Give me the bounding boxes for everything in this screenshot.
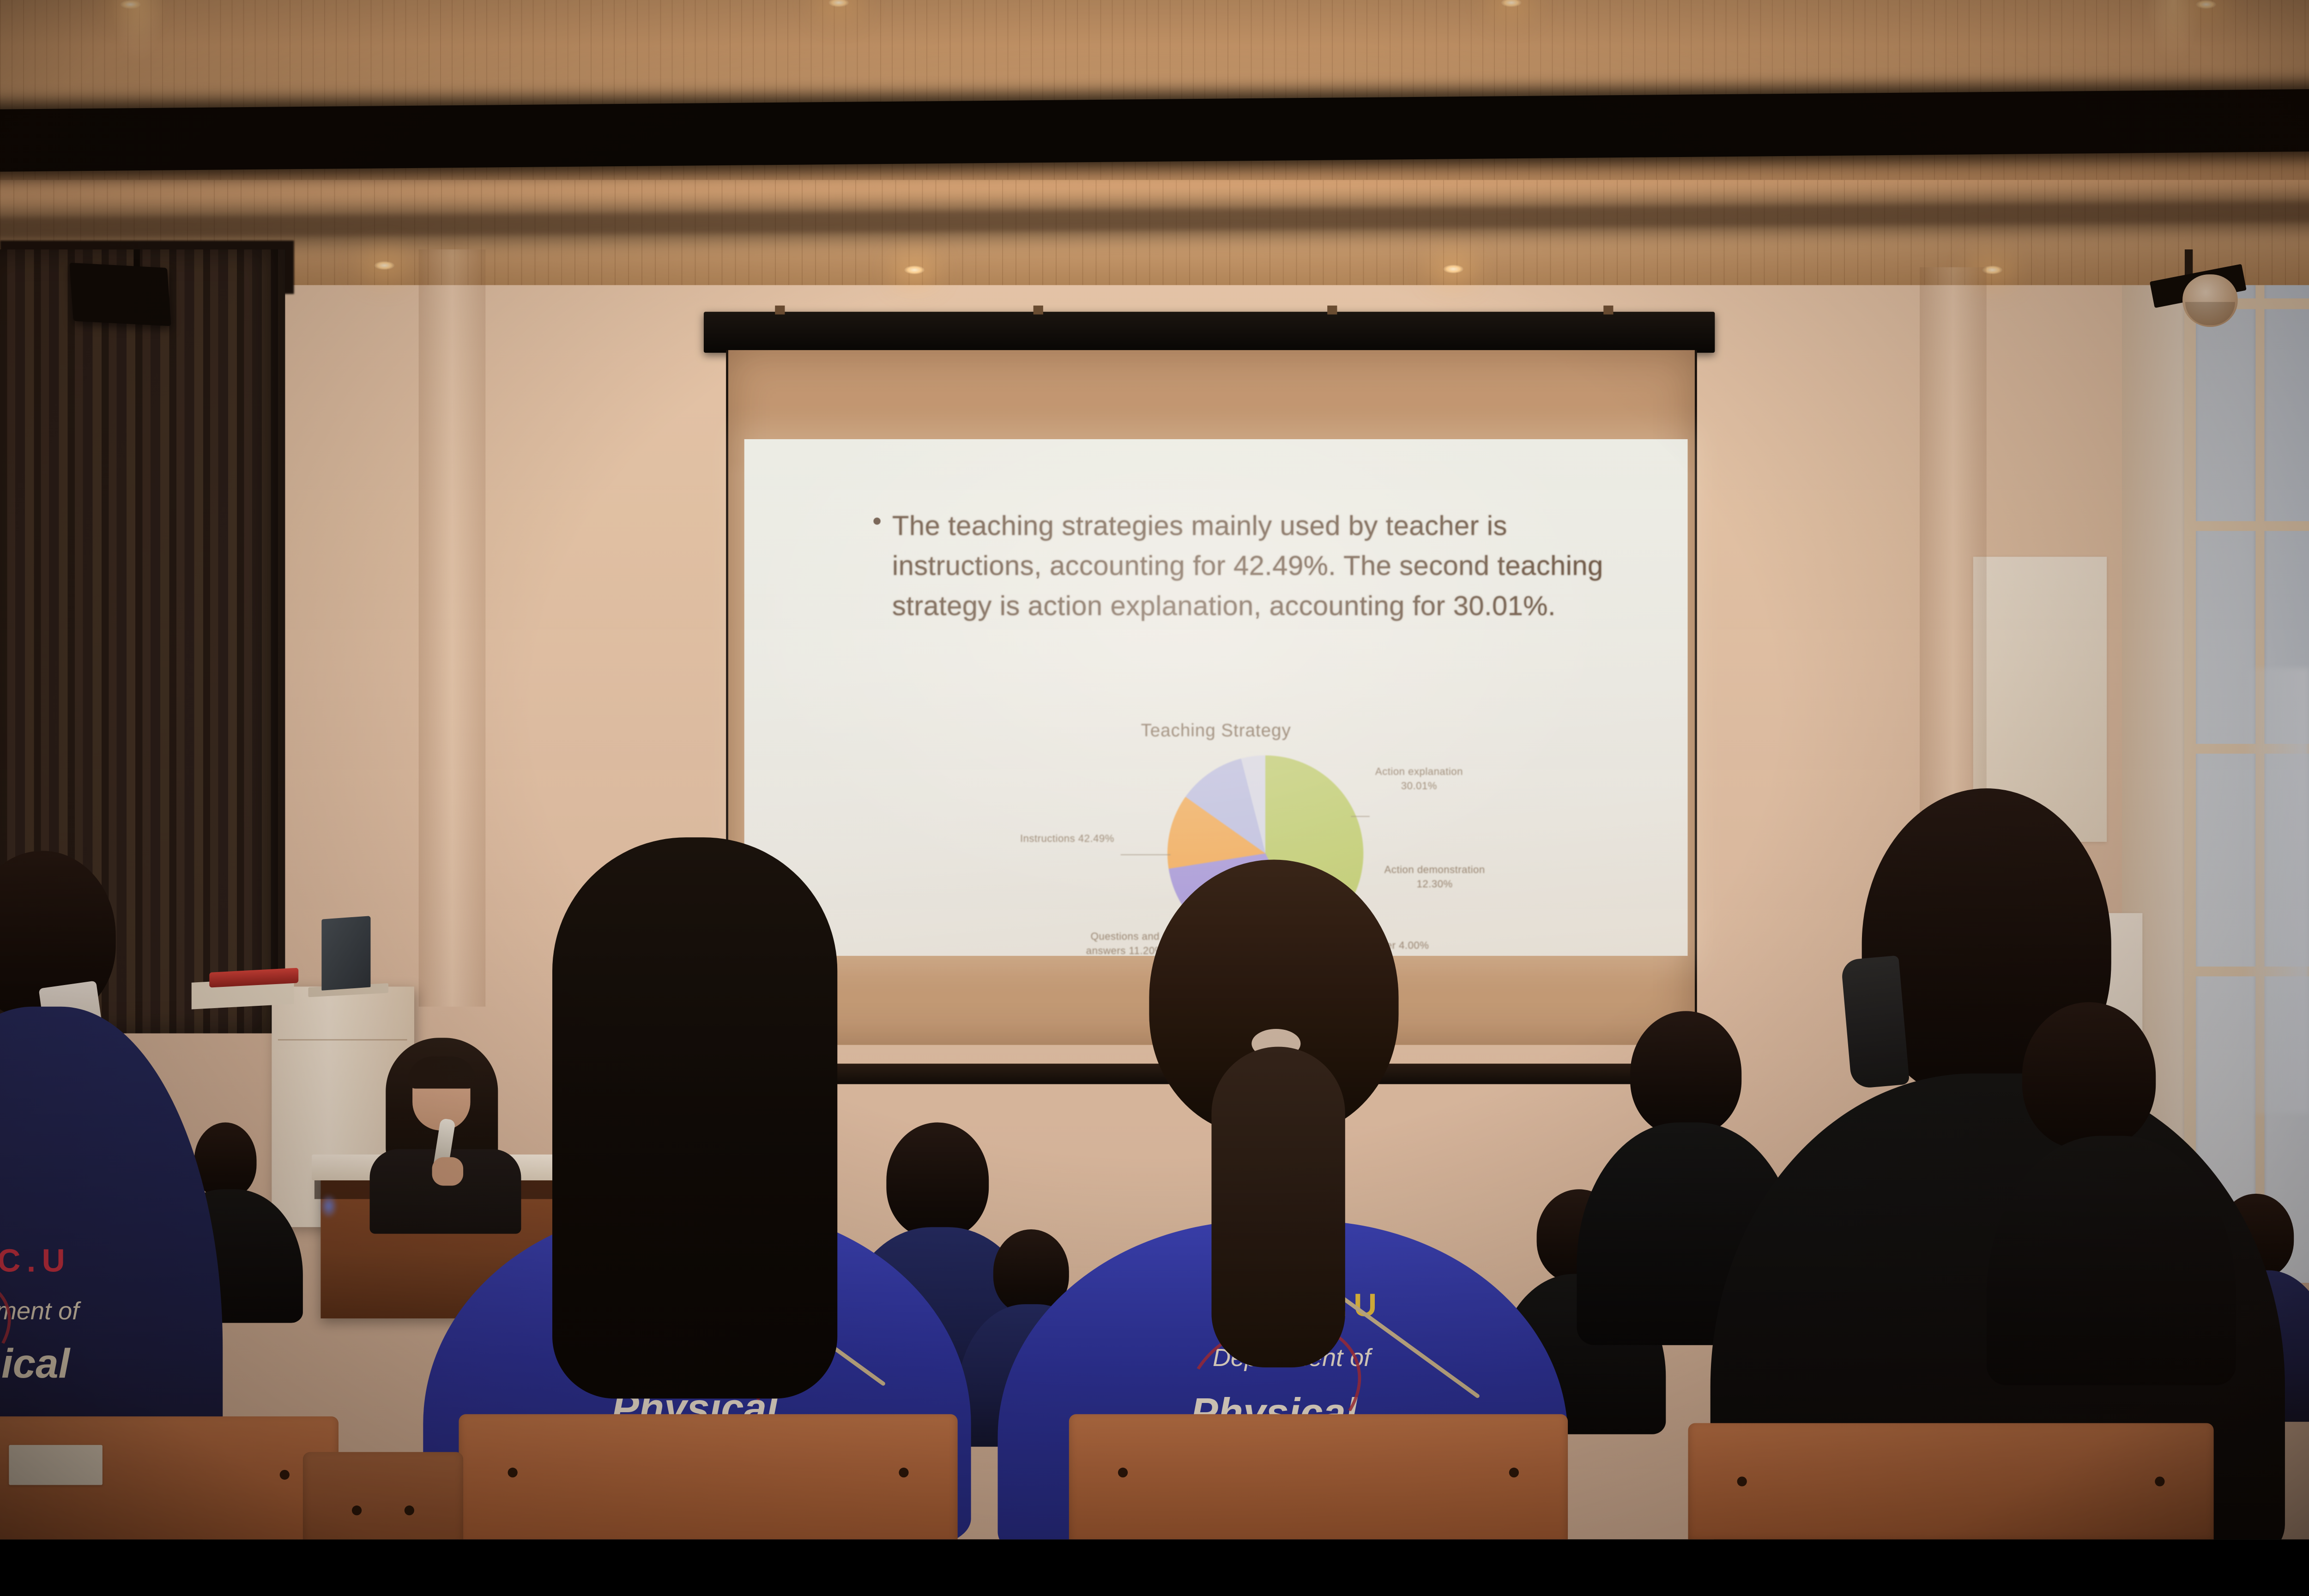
slide-bullet: The teaching strategies mainly used by t… (873, 506, 1604, 626)
presenter-hand (432, 1157, 464, 1186)
pie-label-instructions: Instructions 42.49% (1016, 831, 1118, 846)
screen-housing (704, 312, 1715, 353)
auditorium-chair[interactable] (303, 1452, 463, 1539)
security-camera-icon (2182, 274, 2238, 327)
presenter (370, 1038, 521, 1185)
lecture-hall-photo: The teaching strategies mainly used by t… (0, 0, 2309, 1539)
ceiling-downlight (904, 266, 925, 274)
wall-pilaster (419, 249, 486, 1007)
slide-bullet-text: The teaching strategies mainly used by t… (892, 506, 1604, 626)
ceiling-downlight (2196, 0, 2216, 9)
podium-indicator-light (320, 1194, 338, 1219)
head-hair (552, 837, 837, 1398)
chart-title: Teaching Strategy (744, 721, 1688, 741)
ceiling-downlight (1443, 265, 1463, 273)
auditorium-chair[interactable] (459, 1414, 957, 1539)
presenter-fringe (408, 1057, 476, 1088)
bullet-point-icon (873, 518, 880, 525)
pie-leader-line (1121, 854, 1171, 855)
auditorium-chair[interactable] (0, 1416, 338, 1539)
ceiling-downlight (374, 261, 394, 270)
auditorium-chair[interactable] (1069, 1414, 1568, 1539)
head-hair (2022, 1002, 2156, 1149)
auditorium-chair[interactable] (1688, 1423, 2213, 1540)
ponytail (1211, 1047, 1345, 1367)
pie-label-action-demonstration: Action demonstration 12.30% (1377, 862, 1493, 891)
pie-label-action-explanation: Action explanation 30.01% (1363, 764, 1475, 793)
seat-label (9, 1445, 103, 1485)
face-mask (1841, 955, 1910, 1089)
pie-leader-line (1351, 816, 1370, 817)
wall-speaker (69, 263, 171, 326)
daylight-glare (2242, 668, 2309, 1114)
ceiling-downlight (120, 0, 140, 9)
laptop (321, 916, 370, 991)
